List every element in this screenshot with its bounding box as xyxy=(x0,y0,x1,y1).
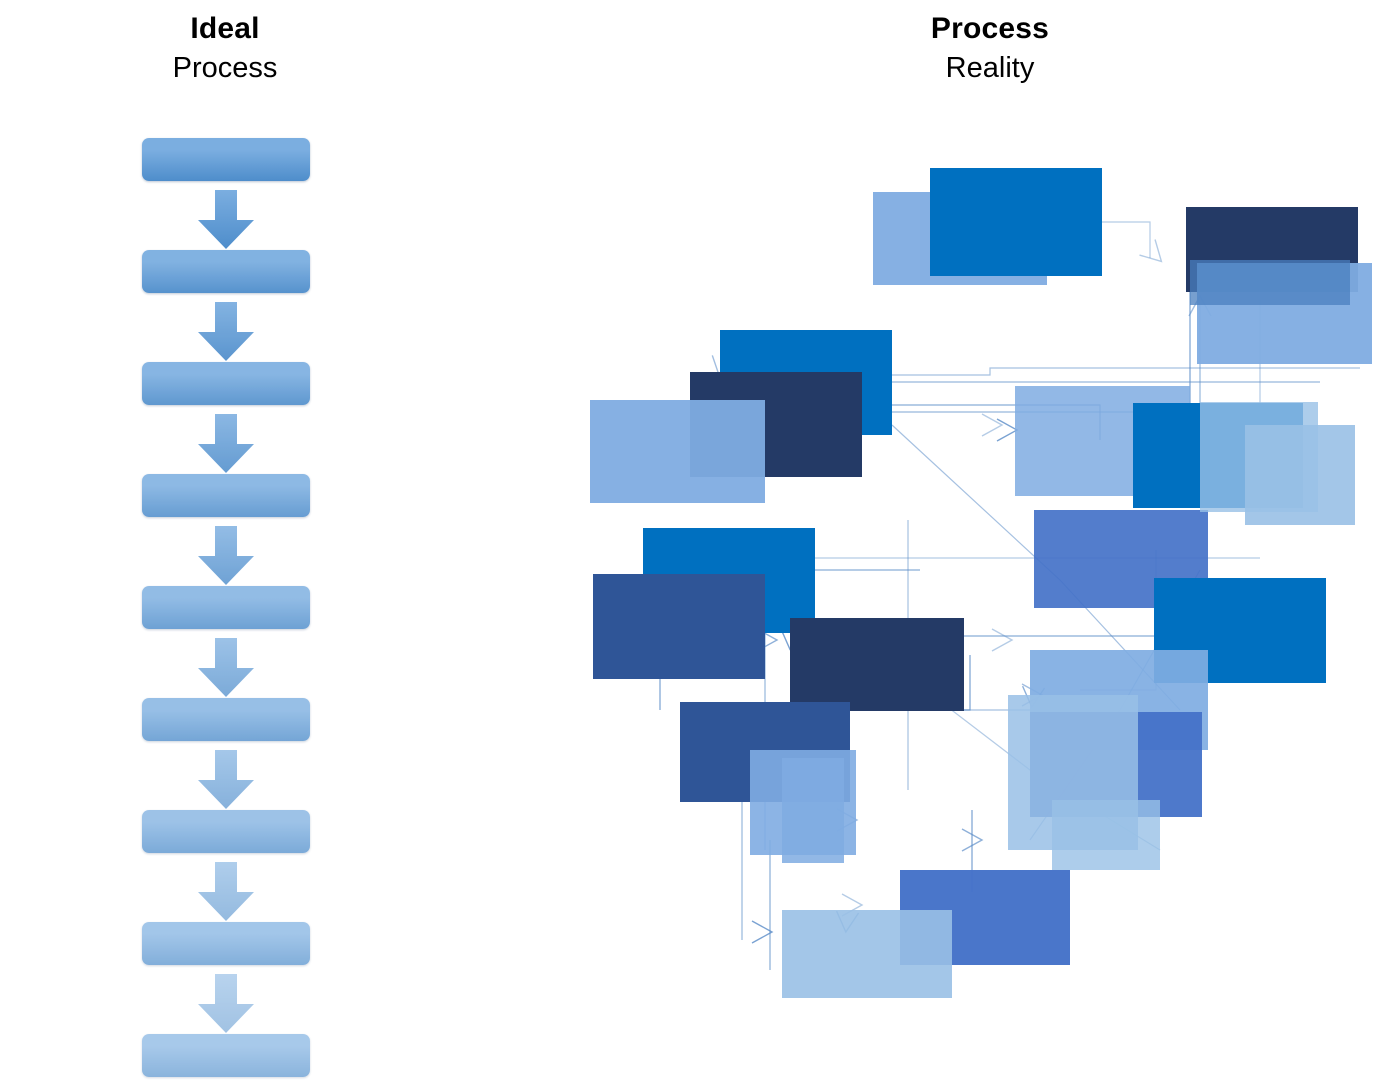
chaos-connector-2 xyxy=(890,368,1360,375)
chaos-arrowhead-icon-5 xyxy=(982,414,1002,436)
reality-process-box-16[interactable] xyxy=(790,618,964,711)
chaos-arrowhead-icon-4 xyxy=(997,419,1017,441)
ideal-process-step-1[interactable] xyxy=(142,138,310,181)
ideal-process-flow xyxy=(0,0,460,1086)
ideal-down-arrow-icon-8 xyxy=(197,974,255,1034)
reality-process-box-24[interactable] xyxy=(782,910,952,998)
ideal-process-step-4[interactable] xyxy=(142,474,310,517)
reality-process-box-21[interactable] xyxy=(782,758,844,863)
ideal-down-arrow-icon-2 xyxy=(197,302,255,362)
ideal-process-step-5[interactable] xyxy=(142,586,310,629)
ideal-process-step-2[interactable] xyxy=(142,250,310,293)
ideal-process-step-7[interactable] xyxy=(142,810,310,853)
chaos-arrowhead-icon-9 xyxy=(992,629,1012,651)
ideal-down-arrow-icon-7 xyxy=(197,862,255,922)
ideal-down-arrow-icon-4 xyxy=(197,526,255,586)
reality-title-sub: Reality xyxy=(840,54,1140,83)
process-reality-chaos xyxy=(560,150,1386,1030)
ideal-down-arrow-icon-3 xyxy=(197,414,255,474)
reality-process-box-25[interactable] xyxy=(1200,402,1318,512)
chaos-arrowhead-icon-1 xyxy=(1139,239,1169,269)
diagram-canvas: Ideal Process Process Reality xyxy=(0,0,1386,1086)
ideal-process-step-8[interactable] xyxy=(142,922,310,965)
reality-process-box-8[interactable] xyxy=(590,400,765,503)
reality-process-box-2[interactable] xyxy=(930,168,1102,276)
reality-process-box-14[interactable] xyxy=(593,574,765,679)
ideal-process-step-6[interactable] xyxy=(142,698,310,741)
chaos-arrowhead-icon-12 xyxy=(752,921,772,943)
ideal-process-step-9[interactable] xyxy=(142,1034,310,1077)
chaos-connector-1 xyxy=(1102,222,1150,258)
reality-title-bold: Process xyxy=(840,14,1140,44)
reality-process-box-26[interactable] xyxy=(1052,800,1160,870)
ideal-down-arrow-icon-5 xyxy=(197,638,255,698)
reality-process-box-5[interactable] xyxy=(1190,260,1350,305)
ideal-down-arrow-icon-6 xyxy=(197,750,255,810)
ideal-process-step-3[interactable] xyxy=(142,362,310,405)
ideal-down-arrow-icon-1 xyxy=(197,190,255,250)
process-reality-title: Process Reality xyxy=(840,14,1140,83)
